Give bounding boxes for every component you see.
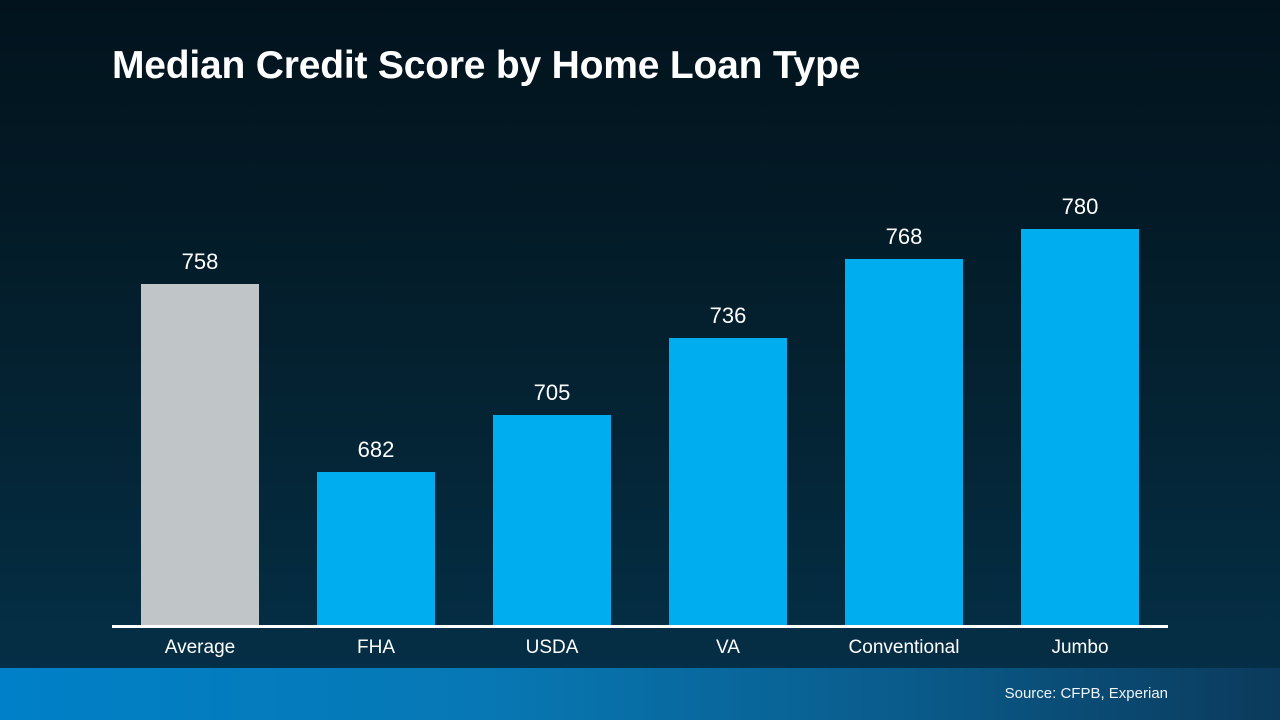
- bar-0[interactable]: [141, 284, 259, 625]
- category-label-4: Conventional: [816, 637, 992, 659]
- x-axis-line: [112, 625, 1168, 628]
- bar-value-label-4: 768: [816, 226, 992, 248]
- page-title: Median Credit Score by Home Loan Type: [112, 44, 860, 88]
- bar-value-label-2: 705: [464, 382, 640, 404]
- bar-series: 758 682 705 736 768 780: [112, 180, 1168, 625]
- bar-3[interactable]: [669, 338, 787, 625]
- bar-4[interactable]: [845, 259, 963, 625]
- bar-2[interactable]: [493, 415, 611, 625]
- source-attribution: Source: CFPB, Experian: [1005, 685, 1168, 702]
- bar-group-2[interactable]: 705: [464, 180, 640, 625]
- category-label-2: USDA: [464, 637, 640, 659]
- bar-value-label-0: 758: [112, 251, 288, 273]
- x-axis-category-labels: Average FHA USDA VA Conventional Jumbo: [112, 637, 1168, 667]
- bar-value-label-5: 780: [992, 196, 1168, 218]
- bar-group-3[interactable]: 736: [640, 180, 816, 625]
- category-label-1: FHA: [288, 637, 464, 659]
- chart-plot-area: 758 682 705 736 768 780: [112, 180, 1168, 628]
- bar-group-4[interactable]: 768: [816, 180, 992, 625]
- category-label-3: VA: [640, 637, 816, 659]
- bar-value-label-3: 736: [640, 305, 816, 327]
- bar-group-1[interactable]: 682: [288, 180, 464, 625]
- footer-bar: Source: CFPB, Experian: [0, 668, 1280, 720]
- category-label-5: Jumbo: [992, 637, 1168, 659]
- bar-5[interactable]: [1021, 229, 1139, 625]
- category-label-0: Average: [112, 637, 288, 659]
- bar-1[interactable]: [317, 472, 435, 625]
- slide-canvas: Median Credit Score by Home Loan Type 75…: [0, 0, 1280, 720]
- bar-group-5[interactable]: 780: [992, 180, 1168, 625]
- bar-group-0[interactable]: 758: [112, 180, 288, 625]
- bar-value-label-1: 682: [288, 439, 464, 461]
